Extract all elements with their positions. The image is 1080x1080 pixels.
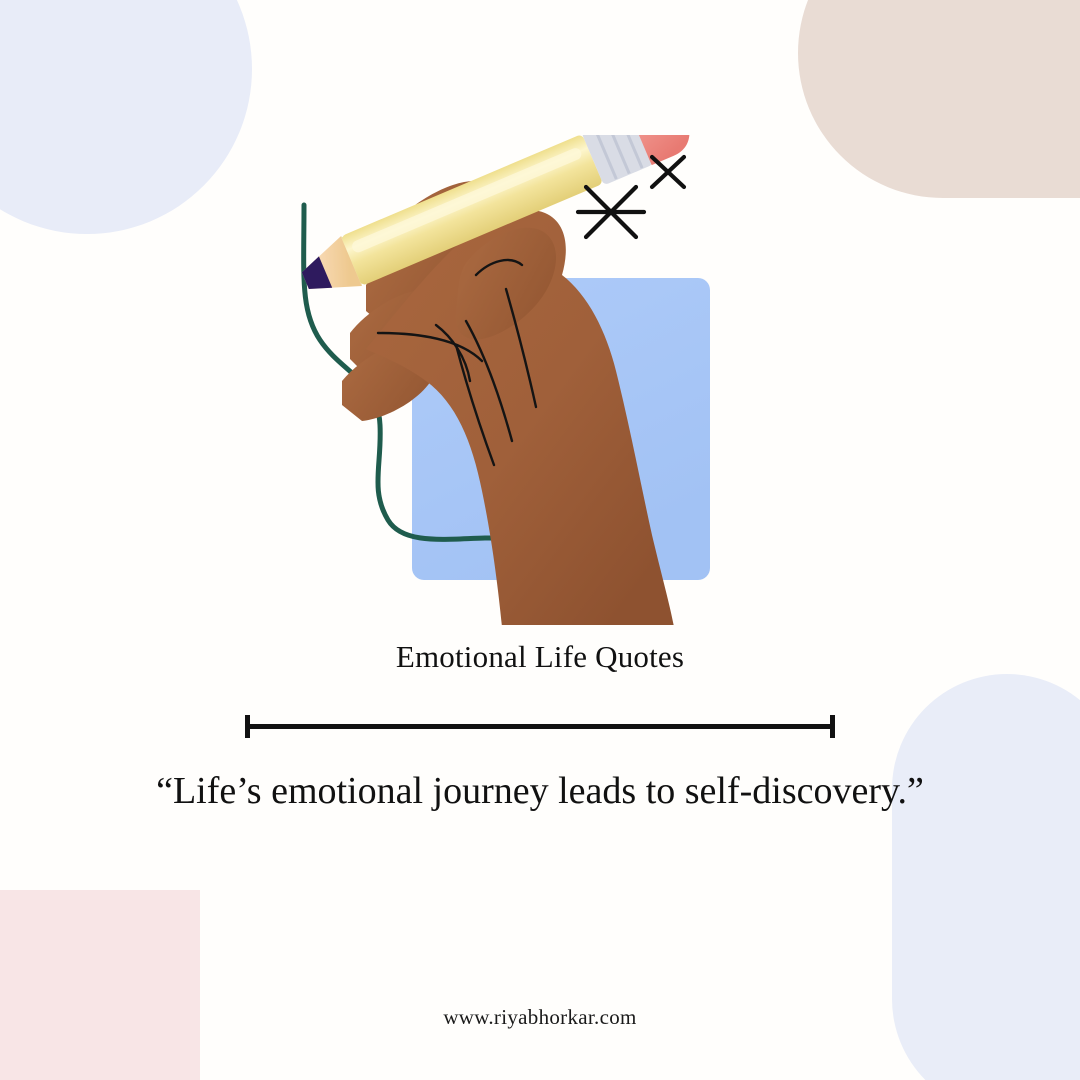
page-title: Emotional Life Quotes <box>0 640 1080 674</box>
footer: www.riyabhorkar.com <box>0 1005 1080 1030</box>
title-divider <box>245 712 835 742</box>
decor-circle-top-left <box>0 0 252 234</box>
hand-pencil-illustration <box>270 135 750 625</box>
content-block: Emotional Life Quotes “Life’s emotional … <box>0 640 1080 816</box>
quote-text: “Life’s emotional journey leads to self-… <box>0 768 1080 816</box>
website-url[interactable]: www.riyabhorkar.com <box>443 1005 636 1029</box>
x-sparkle-icon <box>652 157 684 187</box>
six-point-sparkle-icon <box>578 187 644 237</box>
quote-poster: Emotional Life Quotes “Life’s emotional … <box>0 0 1080 1080</box>
decor-rect-bottom-left <box>0 890 200 1080</box>
divider-cap-right <box>830 715 835 738</box>
divider-line <box>245 724 835 729</box>
decor-blob-top-right <box>798 0 1080 198</box>
